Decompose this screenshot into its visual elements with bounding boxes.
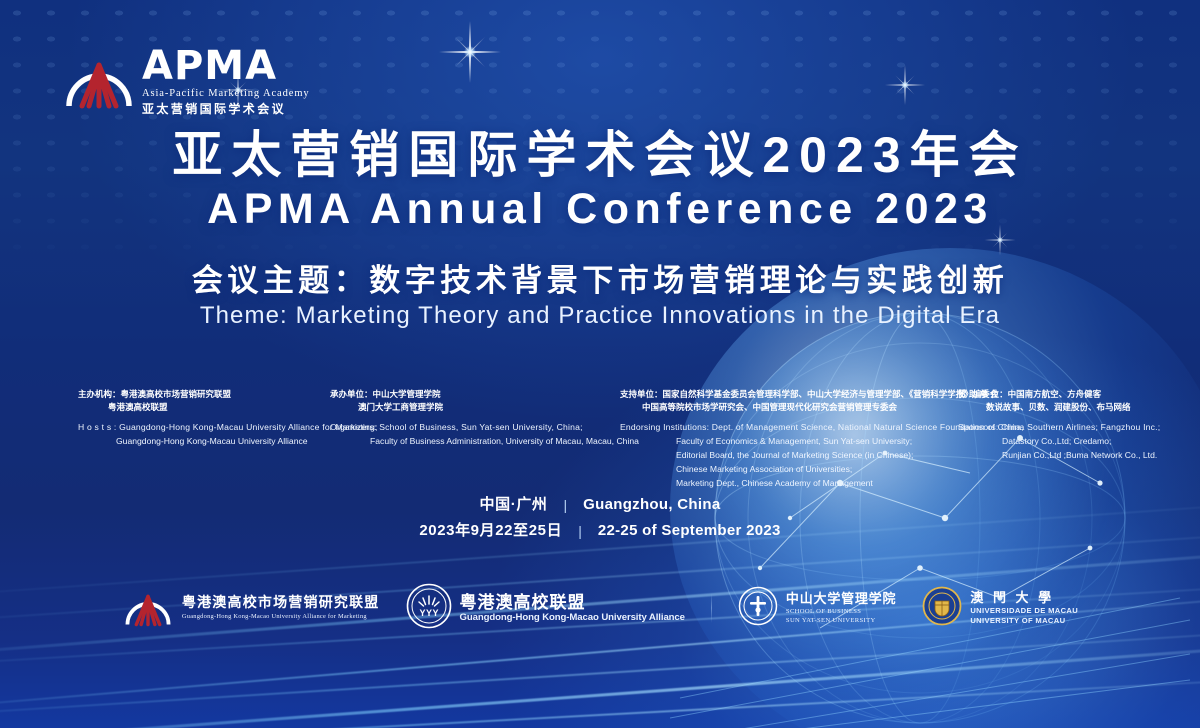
theme-chinese: 会议主题：数字技术背景下市场营销理论与实践创新	[0, 255, 1200, 300]
logo-label-en: UNIVERSIDADE DE MACAU	[970, 607, 1078, 616]
logo-label-en: SCHOOL OF BUSINESS	[786, 608, 896, 615]
endorsing-cn-line: 中国高等院校市场学研究会、中国管理现代化研究会营销管理专委会	[620, 401, 940, 414]
organizers-block: 承办单位：中山大学管理学院 澳门大学工商管理学院 Organizers: Sch…	[330, 388, 610, 449]
endorsing-en-line: Chinese Marketing Association of Univers…	[620, 463, 940, 477]
hosts-en-line: Guangdong-Hong Kong-Macau University All…	[78, 435, 318, 449]
organizers-cn-line: 澳门大学工商管理学院	[330, 401, 610, 414]
organizers-en-line: Faculty of Business Administration, Univ…	[330, 435, 610, 449]
sponsors-cn-line: 赞 助 单 位：中国南方航空、方舟健客	[958, 388, 1188, 401]
venue-city-row: 中国·广州 | Guangzhou, China	[0, 492, 1200, 518]
endorsing-institutions-block: 支持单位：国家自然科学基金委员会管理科学部、中山大学经济与管理学部、《营销科学学…	[620, 388, 940, 491]
sponsors-en-line: Runjian Co.,Ltd ;Buma Network Co., Ltd.	[958, 449, 1188, 463]
sponsors-cn-line: 数说故事、贝数、润建股份、布马网络	[958, 401, 1188, 414]
svg-text:Y: Y	[419, 608, 425, 618]
endorsing-en-line: Endorsing Institutions: Dept. of Managem…	[620, 421, 940, 435]
apma-arch-mark-icon	[122, 582, 174, 635]
organizer-info-row: 主办机构：粤港澳高校市场营销研究联盟 粤港澳高校联盟 H o s t s : G…	[0, 388, 1200, 478]
logo-university-alliance: YYY 粤港澳高校联盟 Guangdong-Hong Kong-Macao Un…	[406, 583, 685, 634]
apma-logo: APMA Asia-Pacific Marketing Academy 亚太营销…	[62, 44, 310, 115]
venue-date-row: 2023年9月22至25日 | 22-25 of September 2023	[0, 518, 1200, 544]
venue-separator: |	[564, 493, 568, 518]
logo-label-cn: 澳 門 大 學	[970, 591, 1078, 606]
logo-divider	[711, 593, 712, 623]
logo-university-of-macau: 澳 門 大 學 UNIVERSIDADE DE MACAU UNIVERSITY…	[922, 586, 1078, 631]
logo-sysu-business-school: 中山大学管理学院 SCHOOL OF BUSINESS SUN YAT-SEN …	[738, 586, 896, 631]
svg-text:Y: Y	[426, 608, 432, 618]
logo-label-cn: 粤港澳高校市场营销研究联盟	[182, 596, 380, 612]
alliance-seal-icon: YYY	[406, 583, 452, 634]
logo-label-cn: 粤港澳高校联盟	[460, 593, 685, 612]
logo-label-en2: SUN YAT-SEN UNIVERSITY	[786, 617, 896, 624]
partner-logo-strip: 粤港澳高校市场营销研究联盟 Guangdong-Hong Kong-Macao …	[0, 578, 1200, 638]
apma-wordmark: APMA	[142, 46, 310, 86]
venue-date-block: 中国·广州 | Guangzhou, China 2023年9月22至25日 |…	[0, 492, 1200, 545]
endorsing-en-line: Marketing Dept., Chinese Academy of Mana…	[620, 477, 940, 491]
sysu-seal-icon	[738, 586, 778, 631]
organizers-en-line: Organizers: School of Business, Sun Yat-…	[330, 421, 610, 435]
endorsing-en-line: Faculty of Economics & Management, Sun Y…	[620, 435, 940, 449]
endorsing-en-line: Editorial Board, the Journal of Marketin…	[620, 449, 940, 463]
conference-poster: APMA Asia-Pacific Marketing Academy 亚太营销…	[0, 0, 1200, 728]
venue-date-chinese: 2023年9月22至25日	[419, 518, 562, 544]
logo-alliance-marketing: 粤港澳高校市场营销研究联盟 Guangdong-Hong Kong-Macao …	[122, 582, 380, 635]
organizers-cn-line: 承办单位：中山大学管理学院	[330, 388, 610, 401]
hosts-en-line: H o s t s : Guangdong-Hong Kong-Macau Un…	[78, 421, 318, 435]
logo-label-en2: UNIVERSITY OF MACAU	[970, 617, 1078, 626]
hosts-cn-line: 主办机构：粤港澳高校市场营销研究联盟	[78, 388, 318, 401]
title-english: APMA Annual Conference 2023	[0, 186, 1200, 233]
apma-logo-chinese: 亚太营销国际学术会议	[142, 103, 310, 115]
sponsors-en-line: Datastory Co.,Ltd; Credamo;	[958, 435, 1188, 449]
venue-city-chinese: 中国·广州	[480, 492, 548, 518]
umac-seal-icon	[922, 586, 962, 631]
logo-label-en: Guangdong-Hong Kong-Macao University All…	[460, 613, 685, 624]
hosts-block: 主办机构：粤港澳高校市场营销研究联盟 粤港澳高校联盟 H o s t s : G…	[78, 388, 318, 449]
apma-logo-english: Asia-Pacific Marketing Academy	[142, 89, 310, 100]
sponsors-block: 赞 助 单 位：中国南方航空、方舟健客 数说故事、贝数、润建股份、布马网络 Sp…	[958, 388, 1188, 463]
logo-label-en: Guangdong-Hong Kong-Macao University All…	[182, 613, 380, 620]
venue-date-english: 22-25 of September 2023	[598, 518, 781, 544]
logo-label-cn: 中山大学管理学院	[786, 592, 896, 607]
venue-city-english: Guangzhou, China	[583, 492, 720, 518]
hosts-cn-line: 粤港澳高校联盟	[78, 401, 318, 414]
svg-text:Y: Y	[432, 608, 438, 618]
title-chinese: 亚太营销国际学术会议2023年会	[0, 128, 1200, 182]
theme-english: Theme: Marketing Theory and Practice Inn…	[0, 302, 1200, 330]
endorsing-cn-line: 支持单位：国家自然科学基金委员会管理科学部、中山大学经济与管理学部、《营销科学学…	[620, 388, 940, 401]
sponsors-en-line: Sponsors: China Southern Airlines; Fangz…	[958, 421, 1188, 435]
venue-separator: |	[578, 519, 582, 544]
apma-arch-mark-icon	[62, 44, 136, 114]
